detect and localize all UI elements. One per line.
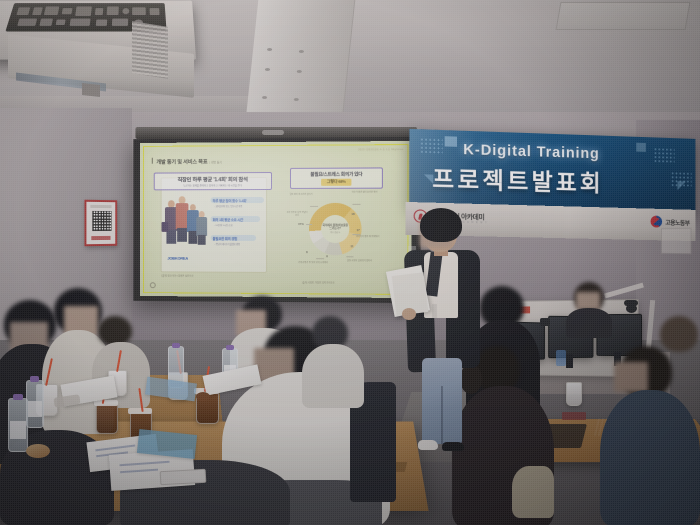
banner-english-title: K-Digital Training — [463, 142, 599, 162]
presenter-pants-seam — [441, 386, 443, 444]
taegeuk-icon — [651, 216, 662, 228]
paper-cup — [566, 382, 582, 406]
donut-label-4: 기록/공유가 안 되어 반복 논의해서 — [296, 262, 330, 265]
desk-bottle-small — [556, 350, 566, 366]
slide-header-note: 2023 디아이디어 A 조 1조 Mightree — [358, 147, 403, 151]
donut-value-1: 18 — [351, 212, 354, 216]
donut-label-0: 결론 없이 장시간만 끌어서 — [288, 194, 314, 197]
donut-value-2: 17 — [356, 228, 359, 232]
donut-value-0: 37% — [298, 222, 304, 226]
title-bar-icon — [152, 158, 153, 164]
donut-label-1: 다수가 의견 없이 듣기만 해서 — [348, 192, 381, 195]
wall-qr-poster — [84, 200, 117, 247]
left-highlight-sub: 누군가는 회의를 준비하고 참석하고 기록하는 데 시간을 쓴다 — [183, 183, 242, 187]
presenter — [398, 208, 494, 460]
cup-lid — [128, 408, 152, 414]
webcam-icon — [540, 318, 550, 326]
snack-item — [196, 392, 210, 401]
ceiling-beam — [246, 0, 356, 120]
slide-right-highlight: 불필요/스트레스 회의가 있다 그렇다 68% — [290, 167, 383, 189]
donut-label-2: 준비되지 않은 채 진행돼서 — [354, 236, 380, 239]
monitor-stand — [566, 354, 573, 368]
poster-caption-bar — [90, 205, 111, 208]
webcam-mount — [624, 300, 638, 306]
presentation-slide: 2023 디아이디어 A 조 1조 Mightree 개발 동기 및 서비스 목… — [143, 144, 408, 295]
right-source-note: [출처] 사람인, 직장인 회의 인식조사 — [302, 280, 335, 284]
seated-person-center-c — [302, 316, 364, 406]
right-highlight-main: 불필요/스트레스 회의가 있다 — [310, 171, 362, 177]
iced-coffee-cup — [96, 404, 118, 434]
wall-notice-sheet — [661, 228, 691, 254]
jobkorea-brand: JOBKOREA — [167, 256, 188, 261]
left-bullet-0: 하루 평균 참여 횟수 '1.4회' — [213, 198, 247, 203]
right-highlight-chip: 그렇다 68% — [321, 178, 352, 185]
projector-mount — [82, 83, 100, 97]
presenter-shoe-right — [442, 442, 464, 451]
donut-chart: 회의에서 불편/비효율을 느끼는가? 복수 응답 % 37% 18 17 11 … — [292, 192, 379, 279]
desk-book — [562, 412, 586, 420]
donut-label-3: 결정 사항이 실행되지 않아서 — [342, 260, 376, 263]
donut-value-4: 9 — [326, 254, 328, 258]
smartphone[interactable] — [160, 469, 207, 485]
poster-label-bar — [91, 236, 110, 240]
donut-center-sub: 복수 응답 % — [330, 231, 340, 234]
left-bullet-sub-1: - 51분(약 1시간) 소요 — [215, 223, 233, 227]
slide-title-row: 개발 동기 및 서비스 목표 | 개발 동기 — [152, 157, 222, 165]
banner-korean-title: 프로젝트발표회 — [432, 159, 603, 198]
donut-center-main: 회의에서 불편/비효율을 느끼는가? — [321, 224, 349, 231]
screen-pull-knob[interactable] — [262, 130, 284, 135]
government-logo: 고용노동부 — [651, 216, 690, 229]
donut-label-5: 상사 위주로 일방 전달이어서 — [286, 212, 308, 217]
donut-center: 회의에서 불편/비효율을 느끼는가? 복수 응답 % — [321, 215, 349, 243]
presenter-hair — [420, 208, 462, 242]
presenter-hand — [402, 308, 416, 320]
slide-subtitle: | 개발 동기 — [209, 160, 221, 164]
photo-scene: 2023 디아이디어 A 조 1조 Mightree 개발 동기 및 서비스 목… — [0, 0, 700, 525]
left-bullet-1: 회의 1회 평균 소요 시간 — [213, 217, 244, 222]
left-bullet-2: 불필요한 회의 경험 — [213, 235, 238, 240]
cup-lid — [94, 400, 118, 406]
chair-back — [512, 466, 554, 518]
ceiling-vent — [556, 2, 691, 30]
projector-vent-icon — [132, 21, 168, 79]
event-banner: K-Digital Training 프로젝트발표회 — [409, 129, 695, 215]
left-bullet-sub-0: - 회의참석의 빈도, 업무시간 비중 — [215, 204, 243, 208]
presenter-shoe-left — [418, 440, 438, 450]
seated-person-right-c — [560, 282, 618, 336]
snack-plate — [26, 444, 50, 458]
slide-title: 개발 동기 및 서비스 목표 — [156, 158, 207, 165]
office-workers-illustration — [164, 196, 207, 254]
slide-left-highlight: 직장인 하루 평균 '1.4회' 회의 참석 누군가는 회의를 준비하고 참석하… — [154, 172, 272, 190]
donut-value-3: 11 — [350, 244, 353, 248]
left-bullet-sub-2: - 응답자 대다수가 불필요 경험 — [215, 242, 240, 246]
left-source-note: [출처] 잡코리아 x 알바몬 설문조사 — [162, 273, 194, 277]
government-logo-text: 고용노동부 — [665, 217, 689, 226]
qr-code-icon — [92, 211, 111, 231]
presenter-badge — [432, 304, 437, 318]
seated-person-right-e — [660, 316, 700, 386]
briefcase-icon — [162, 222, 169, 232]
left-highlight-main: 직장인 하루 평균 '1.4회' 회의 참석 — [178, 175, 248, 183]
water-bottle — [8, 398, 28, 452]
water-bottle — [26, 380, 44, 428]
slide-logo-icon — [150, 282, 156, 288]
donut-value-5: 8 — [306, 250, 308, 254]
